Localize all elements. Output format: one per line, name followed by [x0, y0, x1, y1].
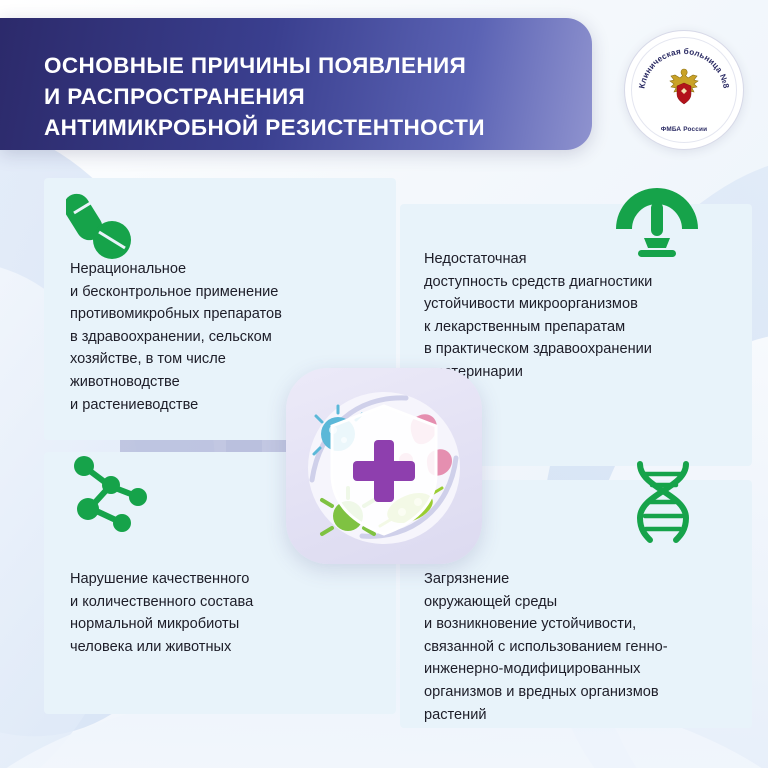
- pills-icon: [66, 188, 152, 274]
- page-title: ОСНОВНЫЕ ПРИЧИНЫ ПОЯВЛЕНИЯ И РАСПРОСТРАН…: [44, 50, 564, 143]
- logo-subtitle: ФМБА России: [625, 126, 743, 133]
- hospital-logo: Клиническая больница №8 ФМБА России: [624, 30, 744, 150]
- infographic-page: ОСНОВНЫЕ ПРИЧИНЫ ПОЯВЛЕНИЯ И РАСПРОСТРАН…: [0, 0, 768, 768]
- molecule-icon: [66, 452, 152, 538]
- shield-with-microbes: [286, 368, 482, 564]
- double-headed-eagle-icon: [661, 65, 707, 113]
- card-text-microbiota-disruption: Нарушение качественного и количественног…: [70, 568, 380, 658]
- dna-icon: [620, 458, 706, 544]
- microscope-icon: [614, 186, 700, 272]
- header-banner: ОСНОВНЫЕ ПРИЧИНЫ ПОЯВЛЕНИЯ И РАСПРОСТРАН…: [0, 18, 592, 150]
- card-text-environment-pollution: Загрязнение окружающей среды и возникнов…: [424, 568, 740, 726]
